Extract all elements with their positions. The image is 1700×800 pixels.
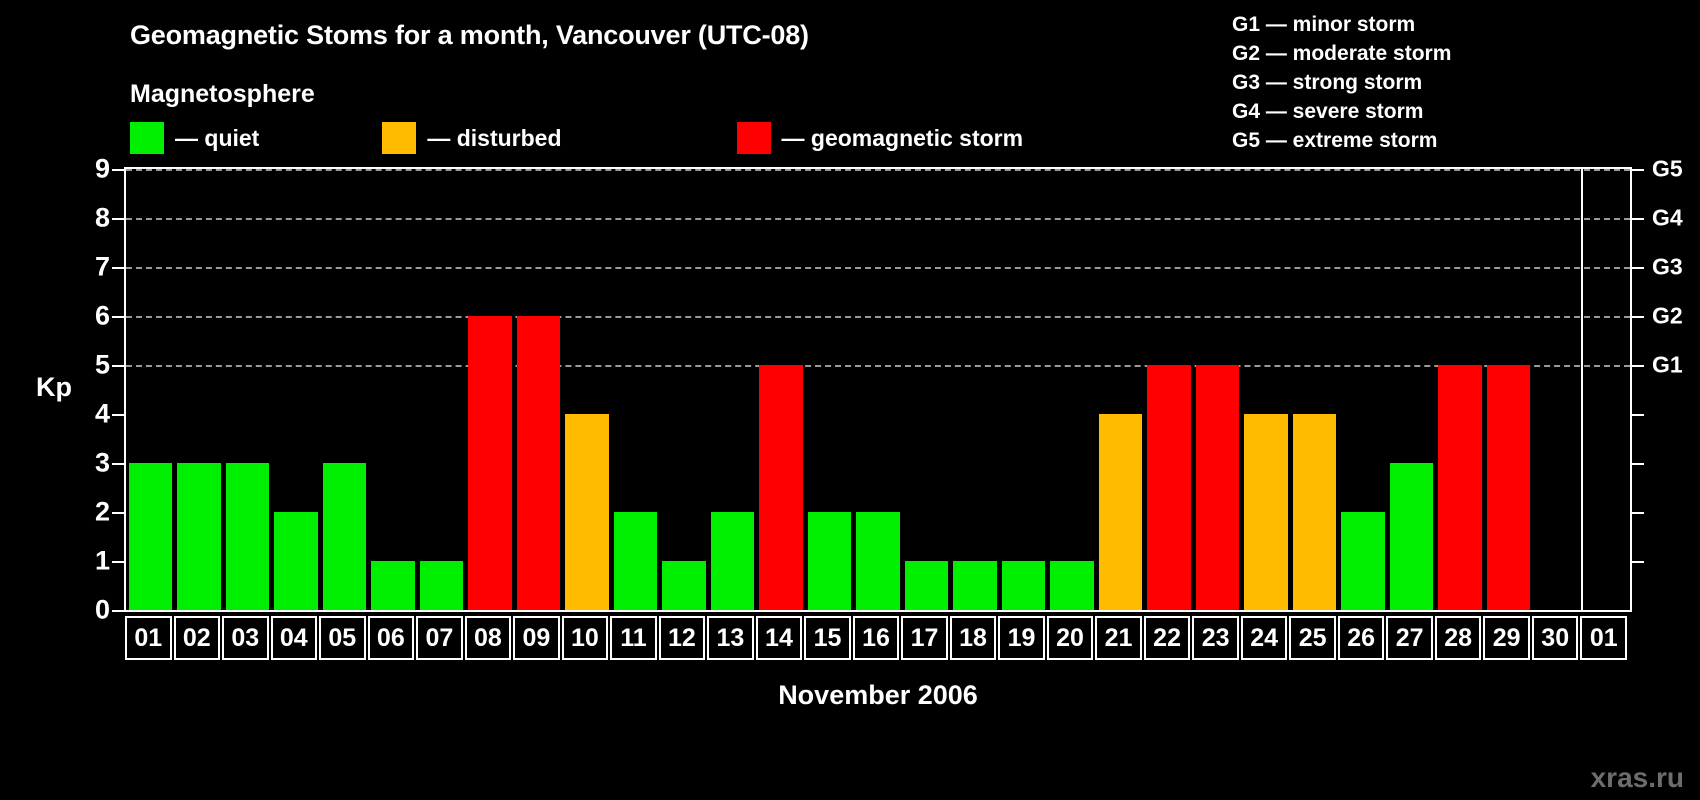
- day-label-13: 14: [756, 616, 803, 660]
- day-label-24: 25: [1289, 616, 1336, 660]
- legend-swatch-2: [737, 122, 771, 154]
- y-tick-mark-1: [112, 561, 124, 563]
- bar-day-02: [177, 463, 221, 610]
- legend-label-0: — quiet: [175, 125, 259, 152]
- y-tick-mark-2: [112, 512, 124, 514]
- legend-entry-1: — disturbed: [382, 122, 561, 154]
- day-label-17: 18: [950, 616, 997, 660]
- legend-entry-0: — quiet: [130, 122, 259, 154]
- g-tick-label-G4: G4: [1652, 205, 1683, 232]
- bar-day-24: [1244, 414, 1288, 610]
- g-tick-label-G2: G2: [1652, 303, 1683, 330]
- y-tick-label-3: 3: [95, 448, 110, 479]
- bar-day-22: [1147, 365, 1191, 610]
- y-tick-label-4: 4: [95, 399, 110, 430]
- bar-day-14: [759, 365, 803, 610]
- day-label-2: 03: [222, 616, 269, 660]
- day-label-30: 01: [1580, 616, 1627, 660]
- day-label-strip: 0102030405060708091011121314151617181920…: [124, 616, 1632, 660]
- g-axis-tick-kp-4: [1632, 414, 1644, 416]
- day-label-22: 23: [1192, 616, 1239, 660]
- bar-day-27: [1390, 463, 1434, 610]
- g-tick-label-G1: G1: [1652, 352, 1683, 379]
- bar-day-06: [371, 561, 415, 610]
- x-axis-title: November 2006: [124, 680, 1632, 711]
- g-tick-label-G5: G5: [1652, 156, 1683, 183]
- day-label-19: 20: [1047, 616, 1094, 660]
- day-label-28: 29: [1483, 616, 1530, 660]
- day-label-16: 17: [901, 616, 948, 660]
- y-tick-label-8: 8: [95, 203, 110, 234]
- bar-day-12: [662, 561, 706, 610]
- day-label-26: 27: [1386, 616, 1433, 660]
- g-axis-tick-kp-8: [1632, 218, 1644, 220]
- g-scale-row-4: G4 — severe storm: [1232, 97, 1451, 126]
- plot-area: [124, 167, 1632, 612]
- day-label-25: 26: [1338, 616, 1385, 660]
- page-title: Geomagnetic Stoms for a month, Vancouver…: [130, 20, 809, 51]
- day-label-7: 08: [465, 616, 512, 660]
- y-tick-mark-9: [112, 169, 124, 171]
- bar-day-28: [1438, 365, 1482, 610]
- day-label-14: 15: [804, 616, 851, 660]
- day-label-5: 06: [368, 616, 415, 660]
- legend-label-2: — geomagnetic storm: [782, 125, 1024, 152]
- day-label-29: 30: [1532, 616, 1579, 660]
- day-label-10: 11: [610, 616, 657, 660]
- y-tick-label-9: 9: [95, 154, 110, 185]
- day-label-11: 12: [659, 616, 706, 660]
- bar-day-05: [323, 463, 367, 610]
- day-label-0: 01: [125, 616, 172, 660]
- y-tick-mark-0: [112, 610, 124, 612]
- y-tick-label-1: 1: [95, 546, 110, 577]
- day-label-23: 24: [1241, 616, 1288, 660]
- legend-heading: Magnetosphere: [130, 80, 315, 109]
- y-tick-label-2: 2: [95, 497, 110, 528]
- bar-day-18: [953, 561, 997, 610]
- day-label-20: 21: [1095, 616, 1142, 660]
- g-scale-row-3: G3 — strong storm: [1232, 68, 1451, 97]
- bar-day-04: [274, 512, 318, 610]
- day-label-8: 09: [513, 616, 560, 660]
- g-scale-legend: G1 — minor stormG2 — moderate stormG3 — …: [1232, 10, 1451, 155]
- month-separator-line: [1581, 169, 1583, 610]
- bar-day-07: [420, 561, 464, 610]
- bar-day-23: [1196, 365, 1240, 610]
- day-label-12: 13: [707, 616, 754, 660]
- y-tick-label-6: 6: [95, 301, 110, 332]
- y-tick-label-7: 7: [95, 252, 110, 283]
- bars-layer: [126, 169, 1630, 610]
- g-scale-row-1: G1 — minor storm: [1232, 10, 1451, 39]
- day-label-27: 28: [1435, 616, 1482, 660]
- bar-day-17: [905, 561, 949, 610]
- bar-day-13: [711, 512, 755, 610]
- legend-label-1: — disturbed: [427, 125, 561, 152]
- bar-day-08: [468, 316, 512, 610]
- day-label-15: 16: [853, 616, 900, 660]
- g-axis-tick-kp-1: [1632, 561, 1644, 563]
- y-tick-mark-5: [112, 365, 124, 367]
- bar-day-15: [808, 512, 852, 610]
- legend-swatch-0: [130, 122, 164, 154]
- g-axis-tick-kp-7: [1632, 267, 1644, 269]
- g-axis-tick-kp-3: [1632, 463, 1644, 465]
- y-tick-label-5: 5: [95, 350, 110, 381]
- bar-day-01: [129, 463, 173, 610]
- day-label-9: 10: [562, 616, 609, 660]
- bar-day-21: [1099, 414, 1143, 610]
- bar-day-10: [565, 414, 609, 610]
- bar-day-09: [517, 316, 561, 610]
- y-tick-mark-8: [112, 218, 124, 220]
- day-label-21: 22: [1144, 616, 1191, 660]
- g-axis-tick-kp-6: [1632, 316, 1644, 318]
- g-axis-tick-kp-5: [1632, 365, 1644, 367]
- day-label-1: 02: [174, 616, 221, 660]
- legend-swatch-1: [382, 122, 416, 154]
- bar-day-26: [1341, 512, 1385, 610]
- plot-inner: [126, 169, 1630, 610]
- y-tick-mark-4: [112, 414, 124, 416]
- y-tick-mark-6: [112, 316, 124, 318]
- legend-entry-2: — geomagnetic storm: [737, 122, 1024, 154]
- day-label-4: 05: [319, 616, 366, 660]
- y-tick-mark-3: [112, 463, 124, 465]
- g-scale-axis: G1G2G3G4G5: [1632, 167, 1700, 612]
- bar-day-11: [614, 512, 658, 610]
- y-axis-title: Kp: [36, 372, 72, 403]
- day-label-18: 19: [998, 616, 1045, 660]
- g-scale-row-5: G5 — extreme storm: [1232, 126, 1451, 155]
- watermark: xras.ru: [1591, 762, 1684, 794]
- bar-day-20: [1050, 561, 1094, 610]
- bar-day-19: [1002, 561, 1046, 610]
- g-axis-tick-kp-9: [1632, 169, 1644, 171]
- bar-day-16: [856, 512, 900, 610]
- g-tick-label-G3: G3: [1652, 254, 1683, 281]
- magnetosphere-legend: — quiet— disturbed— geomagnetic storm: [130, 122, 1023, 154]
- bar-day-03: [226, 463, 270, 610]
- y-tick-mark-7: [112, 267, 124, 269]
- y-tick-label-0: 0: [95, 595, 110, 626]
- g-axis-tick-kp-2: [1632, 512, 1644, 514]
- day-label-6: 07: [416, 616, 463, 660]
- bar-day-25: [1293, 414, 1337, 610]
- bar-day-29: [1487, 365, 1531, 610]
- day-label-3: 04: [271, 616, 318, 660]
- g-scale-row-2: G2 — moderate storm: [1232, 39, 1451, 68]
